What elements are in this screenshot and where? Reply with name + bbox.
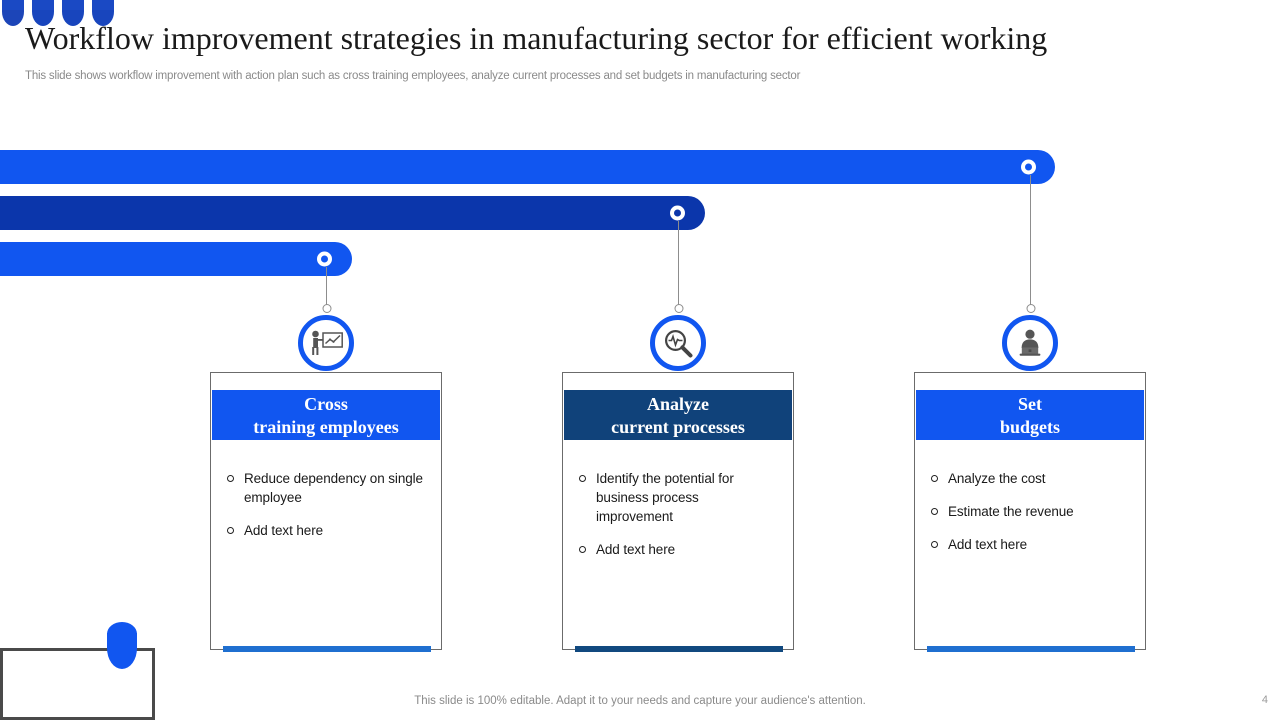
step-card-1-header: Cross training employees	[212, 390, 440, 440]
step-card-1-title-line1: Cross	[304, 393, 348, 415]
bullet-circle-icon	[579, 546, 586, 553]
icon-circle-step-1[interactable]	[298, 315, 354, 371]
presenter-chart-icon	[309, 329, 343, 357]
connector-line-step-3	[1030, 175, 1031, 308]
step-card-3-body: Analyze the cost Estimate the revenue Ad…	[915, 469, 1145, 629]
connector-line-step-2	[678, 221, 679, 308]
list-item: Add text here	[223, 521, 427, 540]
bullet-circle-icon	[931, 508, 938, 515]
icon-circle-step-2[interactable]	[650, 315, 706, 371]
step-card-2-header: Analyze current processes	[564, 390, 792, 440]
progress-bar-bottom	[0, 242, 352, 276]
step-card-1-body: Reduce dependency on single employee Add…	[211, 469, 441, 629]
step-card-2-title-line2: current processes	[611, 416, 745, 438]
step-card-3-footer-bar	[927, 646, 1135, 652]
bullet-circle-icon	[579, 475, 586, 482]
step-card-2-body: Identify the potential for business proc…	[563, 469, 793, 629]
step-card-2-title-line1: Analyze	[647, 393, 709, 415]
bar-circle-marker-icon	[670, 206, 685, 221]
list-item: Identify the potential for business proc…	[575, 469, 779, 526]
step-card-1[interactable]: Cross training employees Reduce dependen…	[210, 372, 442, 650]
bar-circle-marker-icon	[1021, 160, 1036, 175]
list-item-label: Reduce dependency on single employee	[244, 469, 427, 507]
progress-bar-top	[0, 150, 1055, 184]
progress-bar-middle	[0, 196, 705, 230]
list-item: Estimate the revenue	[927, 502, 1131, 521]
bullet-circle-icon	[931, 475, 938, 482]
connector-endpoint-icon	[322, 304, 331, 313]
bar-circle-marker-icon	[317, 252, 332, 267]
list-item-label: Identify the potential for business proc…	[596, 469, 779, 526]
decorative-drop-icon	[2, 0, 24, 26]
list-item-label: Analyze the cost	[948, 469, 1045, 488]
connector-endpoint-icon	[1026, 304, 1035, 313]
slide-canvas: Workflow improvement strategies in manuf…	[0, 0, 1280, 720]
bullet-circle-icon	[931, 541, 938, 548]
page-number: 4	[1262, 694, 1268, 706]
step-card-3-header: Set budgets	[916, 390, 1144, 440]
step-card-3[interactable]: Set budgets Analyze the cost Estimate th…	[914, 372, 1146, 650]
list-item-label: Estimate the revenue	[948, 502, 1074, 521]
list-item-label: Add text here	[596, 540, 675, 559]
person-laptop-icon	[1015, 328, 1045, 358]
icon-circle-step-3[interactable]	[1002, 315, 1058, 371]
step-card-3-title-line1: Set	[1018, 393, 1042, 415]
list-item: Reduce dependency on single employee	[223, 469, 427, 507]
slide-subtitle: This slide shows workflow improvement wi…	[25, 70, 1125, 82]
slide-title: Workflow improvement strategies in manuf…	[25, 20, 1255, 57]
step-card-2-footer-bar	[575, 646, 783, 652]
footer-note: This slide is 100% editable. Adapt it to…	[0, 695, 1280, 707]
bullet-circle-icon	[227, 527, 234, 534]
bullet-circle-icon	[227, 475, 234, 482]
connector-endpoint-icon	[674, 304, 683, 313]
magnifier-pulse-icon	[662, 327, 694, 359]
list-item: Analyze the cost	[927, 469, 1131, 488]
step-card-3-title-line2: budgets	[1000, 416, 1060, 438]
step-card-1-title-line2: training employees	[253, 416, 399, 438]
step-card-1-footer-bar	[223, 646, 431, 652]
step-card-2[interactable]: Analyze current processes Identify the p…	[562, 372, 794, 650]
list-item-label: Add text here	[244, 521, 323, 540]
list-item: Add text here	[575, 540, 779, 559]
connector-line-step-1	[326, 267, 327, 308]
list-item-label: Add text here	[948, 535, 1027, 554]
list-item: Add text here	[927, 535, 1131, 554]
